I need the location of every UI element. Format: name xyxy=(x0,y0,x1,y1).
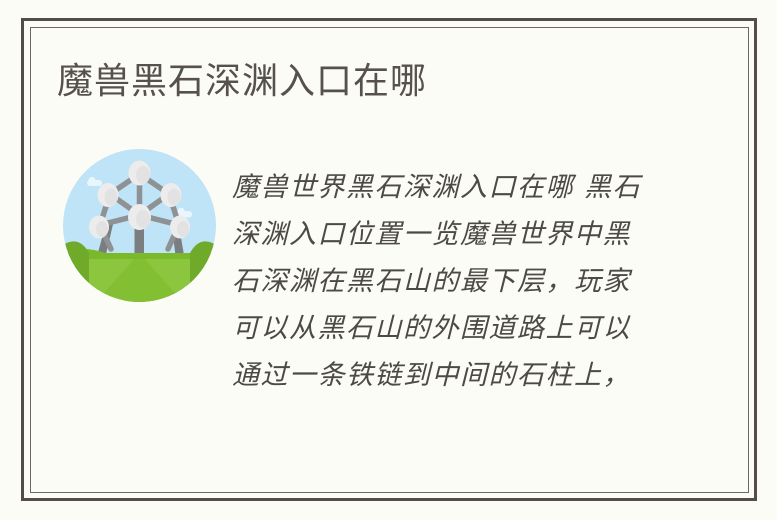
body-line: 魔兽世界黑石深渊入口在哪 黑石 xyxy=(232,164,660,211)
page-title: 魔兽黑石深渊入口在哪 xyxy=(57,59,427,103)
atomium-monument-icon xyxy=(63,149,216,302)
body-line: 石深渊在黑石山的最下层，玩家 xyxy=(232,258,660,305)
article-body-text: 魔兽世界黑石深渊入口在哪 黑石 深渊入口位置一览魔兽世界中黑 石深渊在黑石山的最… xyxy=(232,164,660,399)
body-line: 深渊入口位置一览魔兽世界中黑 xyxy=(232,211,660,258)
page-root: 魔兽黑石深渊入口在哪 xyxy=(0,0,777,520)
article-illustration xyxy=(63,149,216,302)
body-line: 通过一条铁链到中间的石柱上， xyxy=(232,352,660,399)
body-line: 可以从黑石山的外围道路上可以 xyxy=(232,305,660,352)
article-content: 魔兽黑石深渊入口在哪 xyxy=(30,27,749,493)
